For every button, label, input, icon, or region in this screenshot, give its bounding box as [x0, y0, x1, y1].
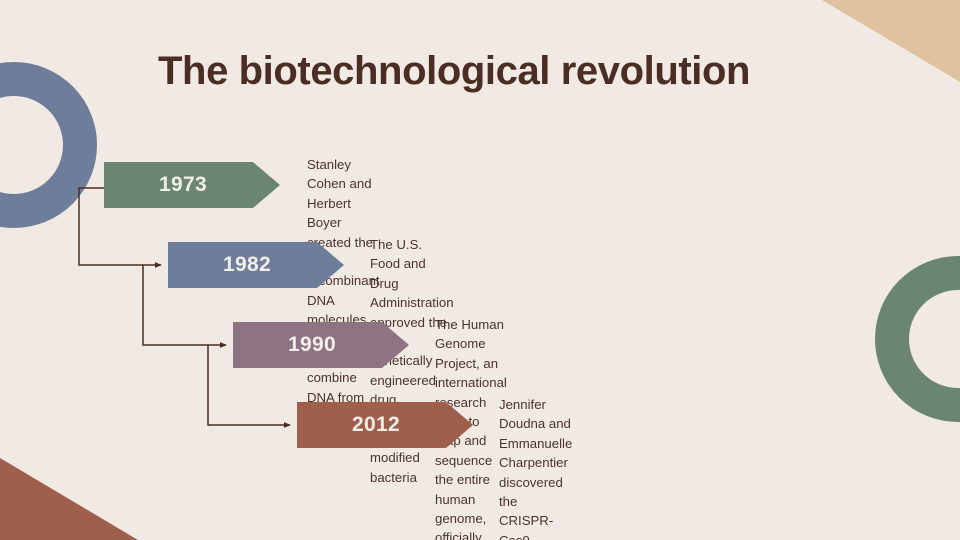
year-label: 2012 — [352, 413, 400, 437]
slide-canvas: The biotechnological revolution 1973 Sta… — [0, 0, 960, 540]
year-chevron-1990[interactable]: 1990 — [233, 322, 409, 368]
year-label: 1982 — [223, 253, 271, 277]
year-label: 1990 — [288, 333, 336, 357]
event-description: Jennifer Doudna and Emmanuelle Charpenti… — [499, 395, 572, 540]
year-chevron-1973[interactable]: 1973 — [104, 162, 280, 208]
year-label: 1973 — [159, 173, 207, 197]
year-chevron-2012[interactable]: 2012 — [297, 402, 473, 448]
timeline: 1973 Stanley Cohen and Herbert Boyer cre… — [0, 0, 960, 540]
year-chevron-1982[interactable]: 1982 — [168, 242, 344, 288]
